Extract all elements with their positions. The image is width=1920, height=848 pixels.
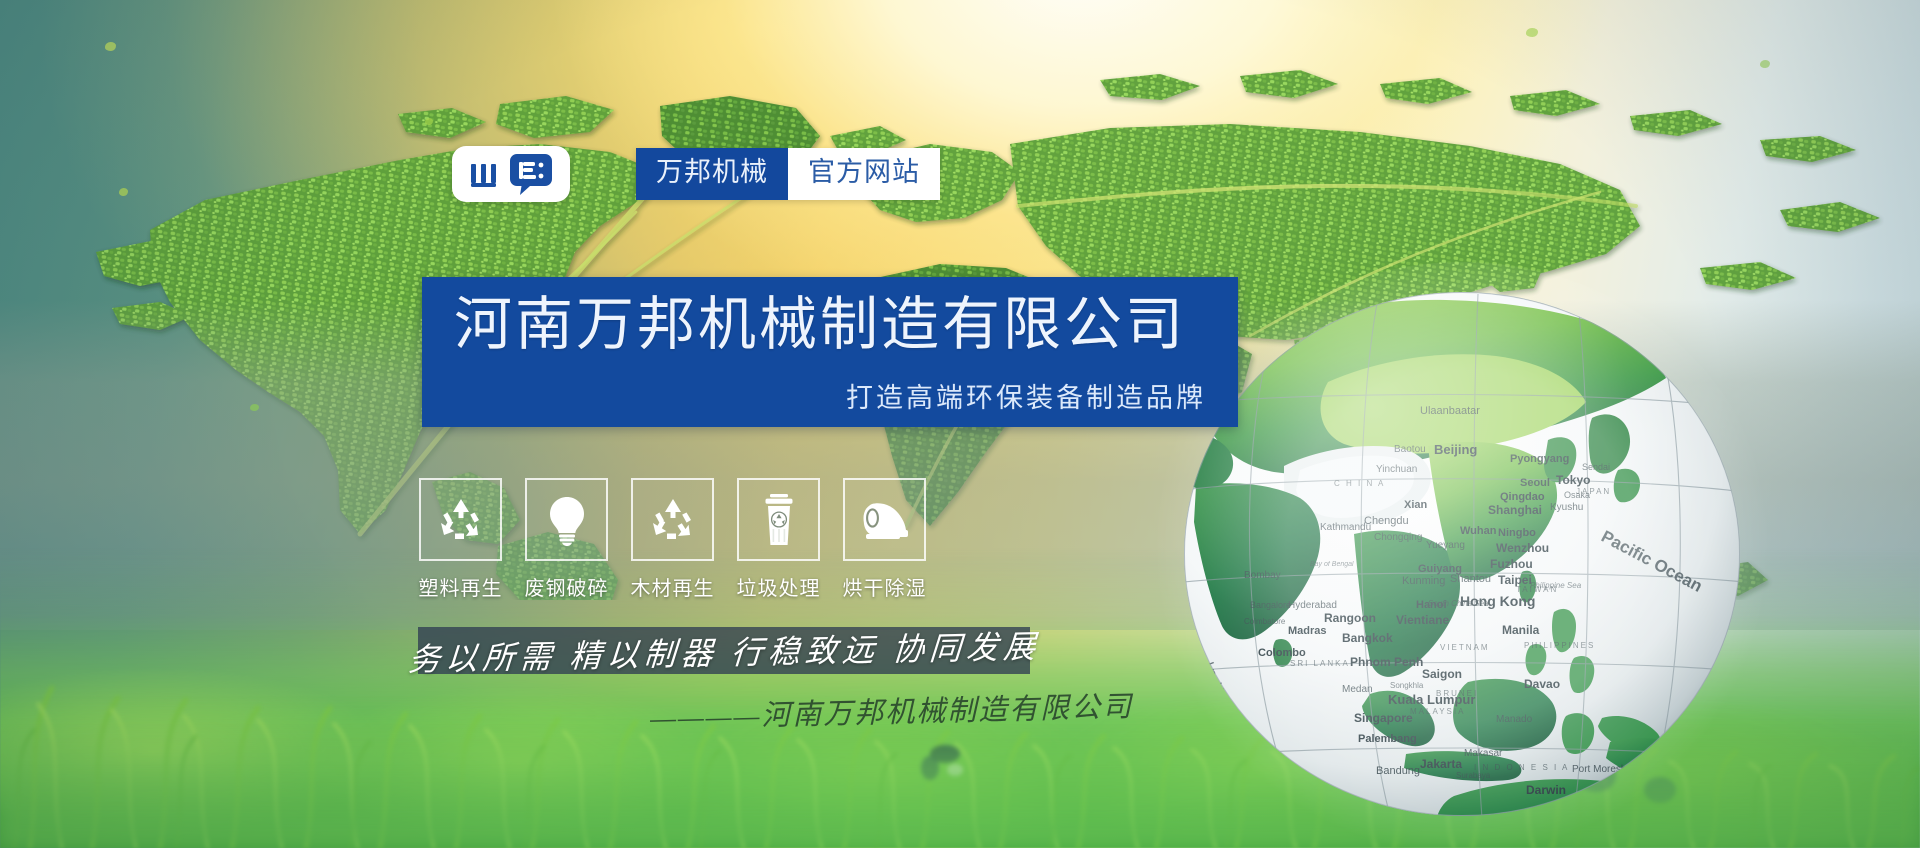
feature-wood-recycling[interactable]: 木材再生 (632, 478, 713, 601)
earth-globe: Pacific Ocean Indian Ocean South China S… (1178, 286, 1746, 826)
nav-tab-brand[interactable]: 万邦机械 (636, 148, 788, 200)
feature-icon-box (419, 478, 502, 561)
feature-icon-box (737, 478, 820, 561)
feature-label: 垃圾处理 (737, 572, 821, 601)
recycle-icon (436, 495, 486, 545)
feature-icon-box (843, 478, 926, 561)
feature-icon-box (631, 478, 714, 561)
site-header: 万邦机械 官方网站 (452, 146, 940, 202)
hero-banner-page: Pacific Ocean Indian Ocean South China S… (0, 0, 1920, 848)
slogan-text: 务以所需 精以制器 行稳致远 协同发展 (406, 621, 1041, 680)
logo-w-mark (468, 158, 502, 190)
feature-drying-dehumidifying[interactable]: 烘干除湿 (844, 478, 925, 601)
feature-label: 塑料再生 (419, 572, 503, 601)
feature-label: 烘干除湿 (843, 572, 927, 601)
feature-icon-row: 塑料再生 废钢破碎 (420, 478, 925, 601)
feature-scrap-steel-crushing[interactable]: 废钢破碎 (526, 478, 607, 601)
globe-glow (1148, 262, 1776, 848)
company-tagline: 打造高端环保装备制造品牌 (846, 376, 1206, 415)
recycle-icon (648, 495, 698, 545)
slogan-bar: 务以所需 精以制器 行稳致远 协同发展 (418, 627, 1030, 674)
feature-label: 木材再生 (631, 572, 715, 601)
trash-bin-icon (759, 493, 799, 547)
dryer-blower-icon (858, 498, 912, 542)
logo-b-bubble-icon (508, 152, 554, 196)
feature-label: 废钢破碎 (525, 572, 609, 601)
feature-icon-box (525, 478, 608, 561)
wanbang-logo[interactable] (452, 146, 570, 202)
feature-waste-treatment[interactable]: 垃圾处理 (738, 478, 819, 601)
lightbulb-icon (543, 494, 591, 546)
feature-plastic-recycling[interactable]: 塑料再生 (420, 478, 501, 601)
hero-title-banner: 河南万邦机械制造有限公司 打造高端环保装备制造品牌 (422, 277, 1238, 427)
nav-tabs: 万邦机械 官方网站 (636, 148, 940, 200)
company-name-title: 河南万邦机械制造有限公司 (454, 295, 1186, 356)
nav-tab-official-site[interactable]: 官方网站 (788, 148, 940, 200)
